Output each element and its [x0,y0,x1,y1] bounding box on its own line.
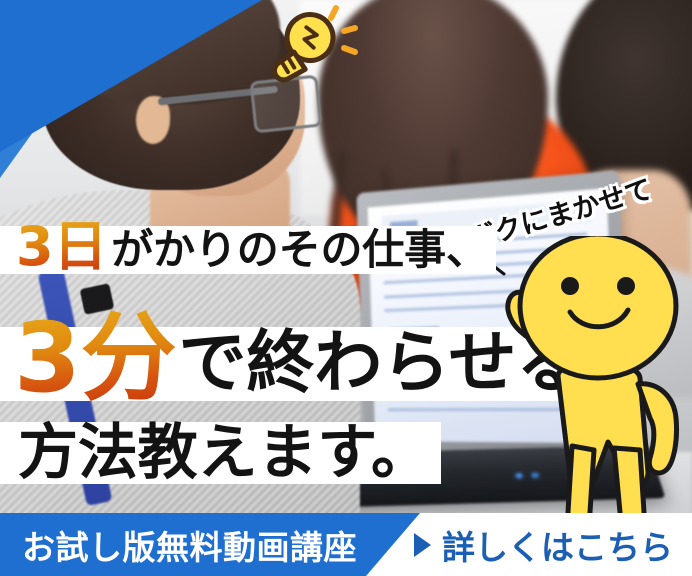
headline-highlight-3min: 3分 [14,310,176,406]
headline-line-3-text: 方法教えます。 [18,423,431,483]
headline-highlight-3days: 3日 [16,220,107,274]
yellow-smiley-mascot [498,236,692,536]
details-cta-link[interactable]: 詳しくはこちら [414,521,673,569]
headline-line-1-text: がかりのその仕事、 [111,229,488,271]
promo-banner: ボクにまかせて 3日 がかりのその仕事、 3分 で終わらせる 方法教えます。 [0,0,692,576]
bottom-bar-label: お試し版無料動画講座 [22,521,357,569]
bottom-cta-bar[interactable]: お試し版無料動画講座 詳しくはこちら [0,513,692,576]
headline-line-1: 3日 がかりのその仕事、 [0,226,496,274]
headline-line-3: 方法教えます。 [0,422,441,484]
details-cta-label: 詳しくはこちら [442,521,673,569]
mascot-left-eye [561,277,579,295]
corner-accent-dark [0,0,262,152]
light-bulb-icon [258,4,364,88]
mascot-right-eye [617,277,635,295]
mascot-head [520,236,676,378]
play-triangle-icon [414,533,431,557]
